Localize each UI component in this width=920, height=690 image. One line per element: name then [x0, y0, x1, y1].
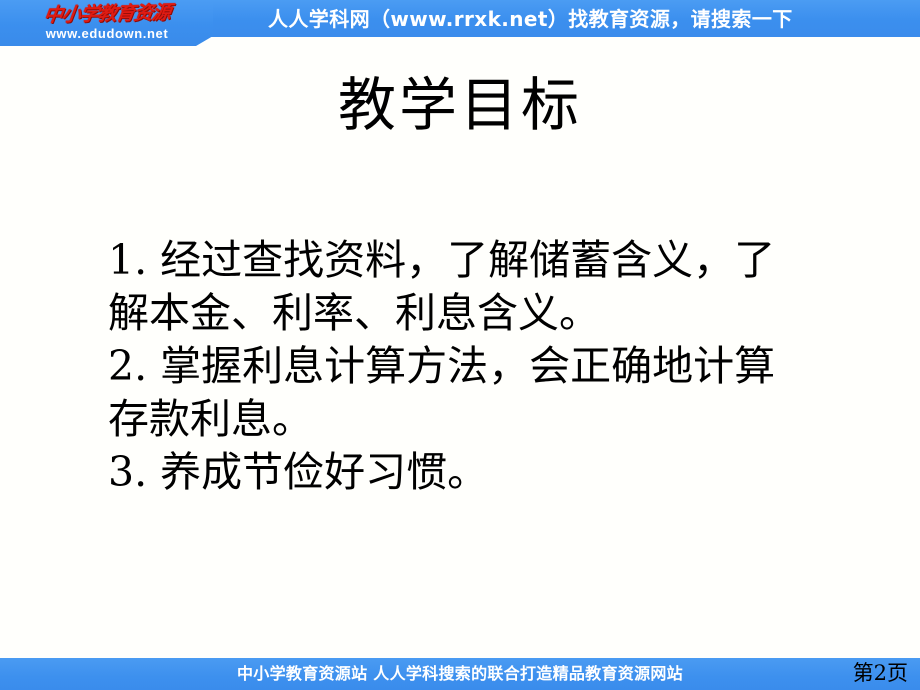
- footer-text: 中小学教育资源站 人人学科搜索的联合打造精品教育资源网站: [0, 660, 920, 688]
- body-line: 2. 掌握利息计算方法，会正确地计算: [108, 340, 838, 393]
- brand-logo: 中小学教育资源 www.edudown.net: [22, 1, 192, 45]
- body-line: 1. 经过查找资料，了解储蓄含义，了: [108, 234, 838, 287]
- brand-logo-url: www.edudown.net: [22, 26, 192, 42]
- slide-page-number: 第2页: [853, 657, 908, 689]
- presentation-slide: 中小学教育资源 www.edudown.net 人人学科网（www.rrxk.n…: [0, 0, 920, 690]
- body-line: 3. 养成节俭好习惯。: [108, 446, 838, 499]
- slide-body: 1. 经过查找资料，了解储蓄含义，了 解本金、利率、利息含义。 2. 掌握利息计…: [108, 234, 838, 499]
- slide-title: 教学目标: [0, 72, 920, 138]
- header-promo-text: 人人学科网（www.rrxk.net）找教育资源，请搜索一下: [268, 2, 908, 36]
- body-line: 解本金、利率、利息含义。: [108, 287, 838, 340]
- brand-logo-wordmark: 中小学教育资源: [20, 0, 194, 29]
- body-line: 存款利息。: [108, 393, 838, 446]
